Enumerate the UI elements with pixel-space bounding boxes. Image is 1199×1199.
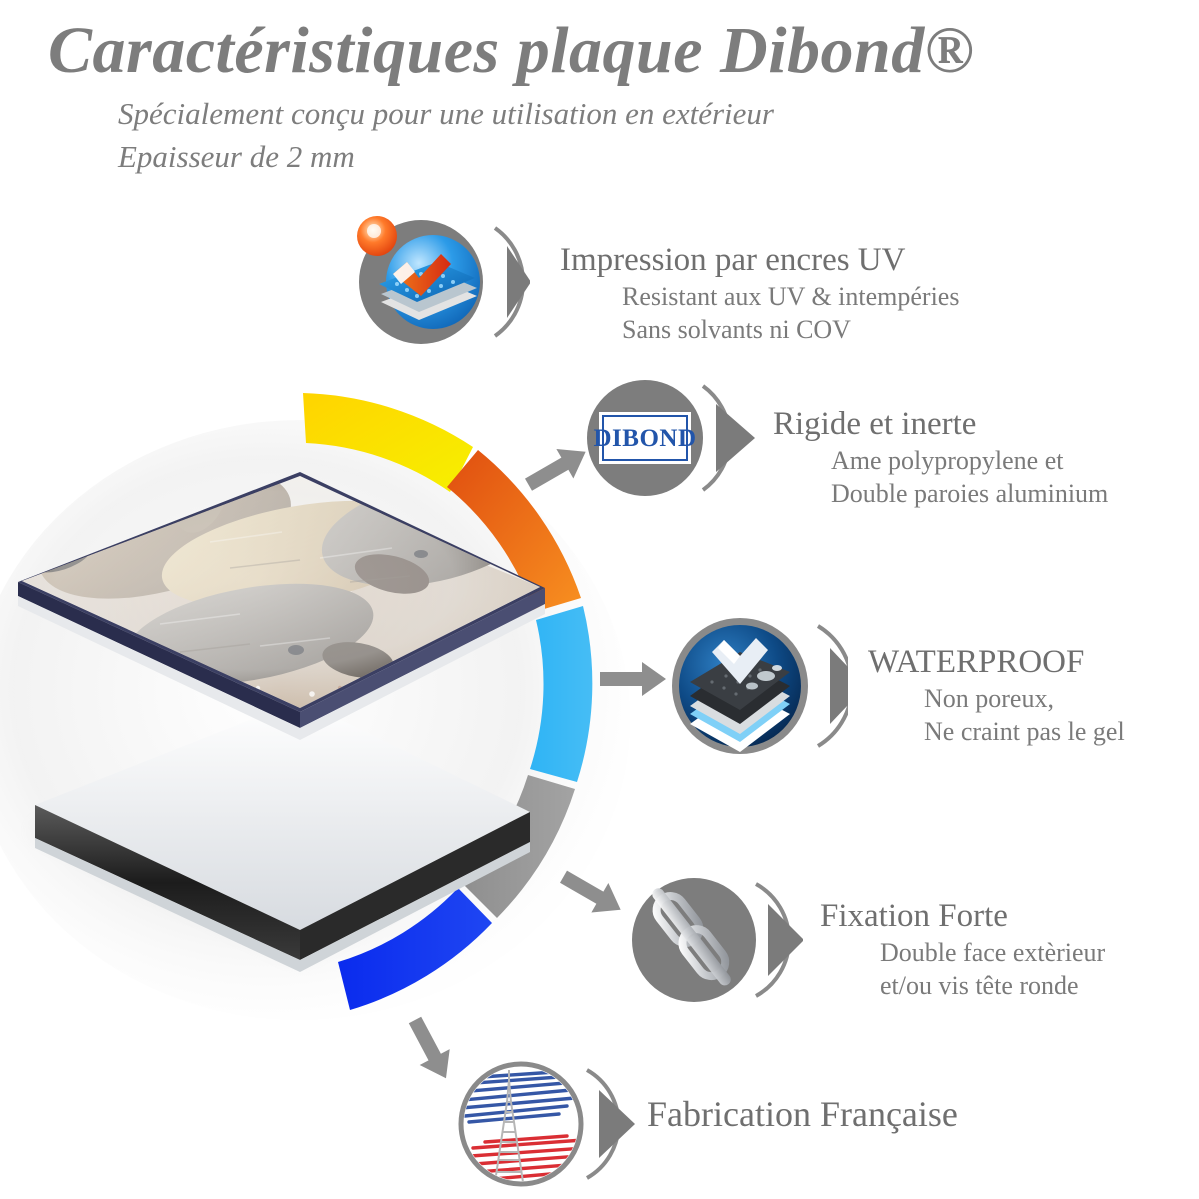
feature-uv-heading: Impression par encres UV (560, 240, 959, 280)
feature-waterproof-line-1: Non poreux, (868, 682, 1125, 715)
feature-rigid-line-2: Double paroies aluminium (773, 477, 1108, 510)
feature-rigid-heading: Rigide et inerte (773, 404, 1108, 444)
feature-uv-line-1: Resistant aux UV & intempéries (560, 280, 959, 313)
arrow-to-french (400, 1012, 461, 1086)
feature-fixation-line-1: Double face extèrieur (820, 936, 1105, 969)
feature-waterproof-line-2: Ne craint pas le gel (868, 715, 1125, 748)
chain-link-icon (628, 872, 803, 1012)
feature-french-heading: Fabrication Française (647, 1094, 958, 1134)
french-flag-eiffel-icon (455, 1056, 640, 1196)
feature-french: Fabrication Française (455, 1056, 1095, 1196)
feature-fixation-line-2: et/ou vis tête ronde (820, 969, 1105, 1002)
feature-waterproof: WATERPROOF Non poreux, Ne craint pas le … (668, 612, 1188, 772)
feature-rigid-line-1: Ame polypropylene et (773, 444, 1108, 477)
uv-ink-icon (355, 212, 530, 352)
feature-fixation-heading: Fixation Forte (820, 896, 1105, 936)
central-artwork (0, 0, 1199, 1199)
infographic-root: Caractéristiques plaque Dibond® Spéciale… (0, 0, 1199, 1199)
feature-waterproof-heading: WATERPROOF (868, 642, 1125, 682)
feature-uv-line-2: Sans solvants ni COV (560, 313, 959, 346)
dibond-wordmark: DIBOND (593, 425, 696, 452)
feature-rigid: DIBOND Rigide et inerte Ame polypropylen… (583, 378, 1199, 518)
dibond-logo-icon: DIBOND (583, 378, 758, 503)
feature-uv: Impression par encres UV Resistant aux U… (355, 212, 1055, 362)
waterproof-layers-icon (668, 612, 848, 764)
feature-fixation: Fixation Forte Double face extèrieur et/… (628, 872, 1178, 1017)
